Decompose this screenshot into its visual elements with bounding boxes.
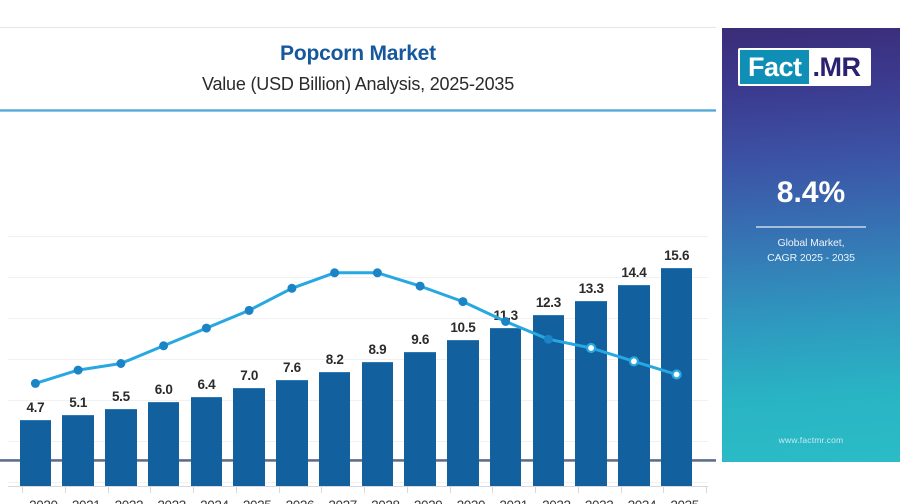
line-marker-2026[interactable] <box>288 284 296 292</box>
page-title: Popcorn Market <box>280 41 436 67</box>
line-marker-2024[interactable] <box>202 324 210 332</box>
line-marker-2023[interactable] <box>160 342 168 350</box>
x-axis-line <box>8 486 708 487</box>
x-tick-label-2026: 2026 <box>279 498 322 504</box>
x-tick <box>663 487 664 493</box>
cagr-value: 8.4% <box>722 176 900 210</box>
bar-value-label: 14.4 <box>613 265 656 280</box>
cagr-caption: Global Market, CAGR 2025 - 2035 <box>722 236 900 266</box>
x-tick <box>535 487 536 493</box>
bar-2035[interactable] <box>661 268 692 486</box>
website-url: www.factmr.com <box>722 435 900 445</box>
factmr-logo[interactable]: Fact .MR <box>738 48 871 86</box>
x-tick-label-2029: 2029 <box>407 498 450 504</box>
x-tick-label-2030: 2030 <box>450 498 493 504</box>
x-tick <box>193 487 194 493</box>
bar-value-label: 5.5 <box>100 389 143 404</box>
x-tick-label-2023: 2023 <box>150 498 193 504</box>
line-marker-2030[interactable] <box>459 298 467 306</box>
cagr-divider <box>756 226 866 228</box>
x-tick <box>65 487 66 493</box>
x-tick-label-2024: 2024 <box>193 498 236 504</box>
bar-value-label: 7.6 <box>271 360 314 375</box>
bar-value-label: 6.4 <box>185 377 228 392</box>
bar-value-label: 6.0 <box>142 382 185 397</box>
bar-2024[interactable] <box>191 397 222 486</box>
logo-band: Fact .MR <box>722 28 900 108</box>
x-tick-label-2021: 2021 <box>65 498 108 504</box>
x-tick <box>321 487 322 493</box>
x-tick-label-2031: 2031 <box>492 498 535 504</box>
bar-value-label: 15.6 <box>655 248 698 263</box>
bar-2029[interactable] <box>404 352 435 486</box>
x-tick <box>407 487 408 493</box>
x-tick <box>108 487 109 493</box>
gridline <box>8 277 708 278</box>
line-marker-2021[interactable] <box>74 366 82 374</box>
cagr-caption-line2: CAGR 2025 - 2035 <box>722 251 900 266</box>
bar-2020[interactable] <box>20 420 51 486</box>
x-tick-label-2032: 2032 <box>535 498 578 504</box>
chart-area: 4.75.15.56.06.47.07.68.28.99.610.511.312… <box>0 112 716 459</box>
x-tick <box>450 487 451 493</box>
bar-2023[interactable] <box>148 402 179 486</box>
bar-2027[interactable] <box>319 372 350 486</box>
bar-2031[interactable] <box>490 328 521 486</box>
bar-2026[interactable] <box>276 380 307 486</box>
x-tick <box>150 487 151 493</box>
x-tick-label-2027: 2027 <box>321 498 364 504</box>
bar-2032[interactable] <box>533 315 564 486</box>
line-marker-2028[interactable] <box>373 269 381 277</box>
infographic-root: Popcorn Market Value (USD Billion) Analy… <box>0 0 900 504</box>
line-marker-2027[interactable] <box>331 269 339 277</box>
bar-value-label: 13.3 <box>570 281 613 296</box>
bar-value-label: 4.7 <box>14 400 57 415</box>
x-tick <box>621 487 622 493</box>
line-marker-2020[interactable] <box>31 379 39 387</box>
x-tick-label-2035: 2035 <box>663 498 706 504</box>
bar-2021[interactable] <box>62 415 93 486</box>
bar-value-label: 7.0 <box>228 368 271 383</box>
bar-2034[interactable] <box>618 285 649 486</box>
bar-value-label: 10.5 <box>442 320 485 335</box>
bar-2022[interactable] <box>105 409 136 486</box>
x-tick-label-2022: 2022 <box>108 498 151 504</box>
x-tick <box>22 487 23 493</box>
bar-2025[interactable] <box>233 388 264 486</box>
bar-2028[interactable] <box>362 362 393 486</box>
bar-value-label: 11.3 <box>484 308 527 323</box>
line-marker-2022[interactable] <box>117 360 125 368</box>
x-tick-label-2034: 2034 <box>621 498 664 504</box>
bar-2030[interactable] <box>447 340 478 486</box>
bar-value-label: 8.2 <box>313 352 356 367</box>
bar-value-label: 5.1 <box>57 395 100 410</box>
page-subtitle: Value (USD Billion) Analysis, 2025-2035 <box>202 74 514 96</box>
x-tick <box>492 487 493 493</box>
brand-side-panel: Fact .MR 8.4% Global Market, CAGR 2025 -… <box>722 28 900 462</box>
x-tick <box>578 487 579 493</box>
bar-2033[interactable] <box>575 301 606 486</box>
x-tick-label-2028: 2028 <box>364 498 407 504</box>
x-axis-labels: 2020202120222023202420252026202720282029… <box>0 498 716 504</box>
chart-header: Popcorn Market Value (USD Billion) Analy… <box>0 28 716 109</box>
logo-mr-text: .MR <box>809 50 869 84</box>
x-tick-label-2025: 2025 <box>236 498 279 504</box>
bar-value-label: 12.3 <box>527 295 570 310</box>
x-tick-label-2033: 2033 <box>578 498 621 504</box>
gridline <box>8 236 708 237</box>
line-marker-2029[interactable] <box>416 282 424 290</box>
line-marker-2025[interactable] <box>245 306 253 314</box>
logo-fact-text: Fact <box>740 50 809 84</box>
bar-value-label: 8.9 <box>356 342 399 357</box>
cagr-caption-line1: Global Market, <box>722 236 900 251</box>
x-tick <box>279 487 280 493</box>
x-tick <box>364 487 365 493</box>
x-tick <box>706 487 707 493</box>
x-tick-label-2020: 2020 <box>22 498 65 504</box>
bar-value-label: 9.6 <box>399 332 442 347</box>
x-tick <box>236 487 237 493</box>
